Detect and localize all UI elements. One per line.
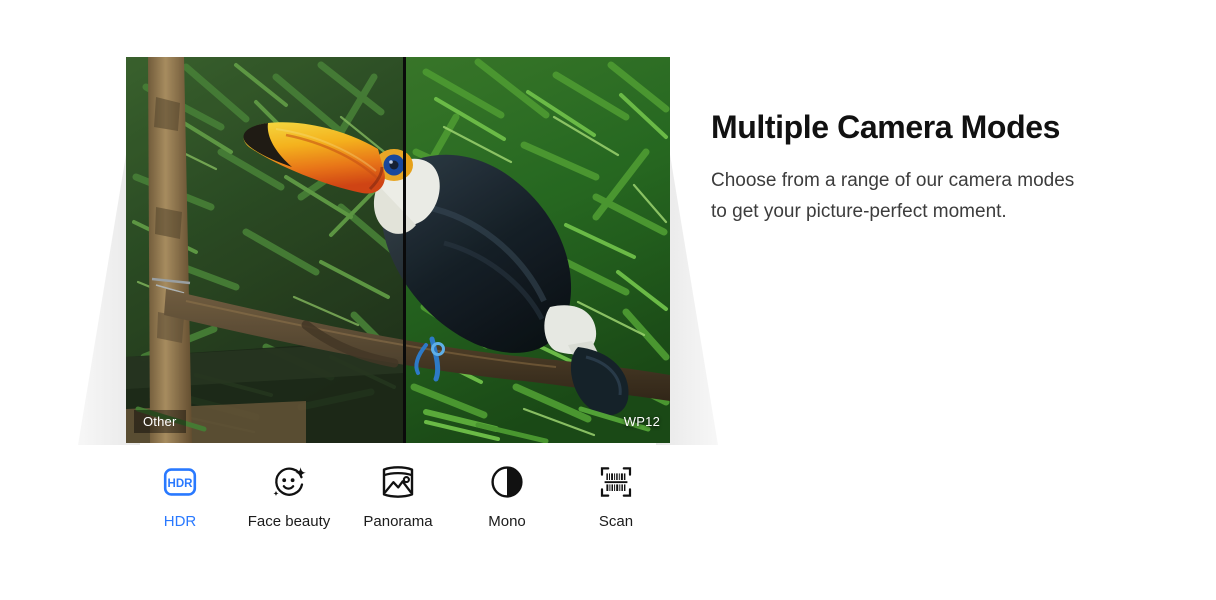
comparison-divider[interactable] — [403, 57, 406, 443]
mode-item-scan[interactable]: Scan — [562, 462, 670, 529]
camera-mode-strip: HDR HDR Face beauty — [126, 462, 670, 552]
comparison-label-left: Other — [134, 410, 186, 433]
mono-icon — [487, 462, 527, 502]
mode-item-mono[interactable]: Mono — [453, 462, 561, 529]
panorama-icon — [378, 462, 418, 502]
hdr-icon: HDR — [160, 462, 200, 502]
mode-item-face-beauty[interactable]: Face beauty — [235, 462, 343, 529]
mode-item-hdr[interactable]: HDR HDR — [126, 462, 234, 529]
photo-comparison-module: Other WP12 HDR HDR — [0, 0, 700, 600]
toucan-photo-artwork — [126, 57, 670, 443]
mode-item-panorama[interactable]: Panorama — [344, 462, 452, 529]
comparison-photo[interactable]: Other WP12 — [126, 57, 670, 443]
camera-modes-feature-panel: Other WP12 HDR HDR — [0, 0, 1216, 600]
mode-label-face-beauty: Face beauty — [248, 514, 331, 529]
page-title: Multiple Camera Modes — [711, 109, 1111, 147]
face-beauty-icon — [269, 462, 309, 502]
feature-description: Choose from a range of our camera modes … — [711, 165, 1076, 228]
svg-text:HDR: HDR — [168, 478, 194, 490]
comparison-label-right: WP12 — [622, 410, 662, 433]
mode-label-panorama: Panorama — [363, 514, 432, 529]
mode-label-mono: Mono — [488, 514, 526, 529]
mode-label-hdr: HDR — [164, 514, 197, 529]
mode-label-scan: Scan — [599, 514, 633, 529]
feature-copy-block: Multiple Camera Modes Choose from a rang… — [711, 109, 1111, 227]
scan-icon — [596, 462, 636, 502]
